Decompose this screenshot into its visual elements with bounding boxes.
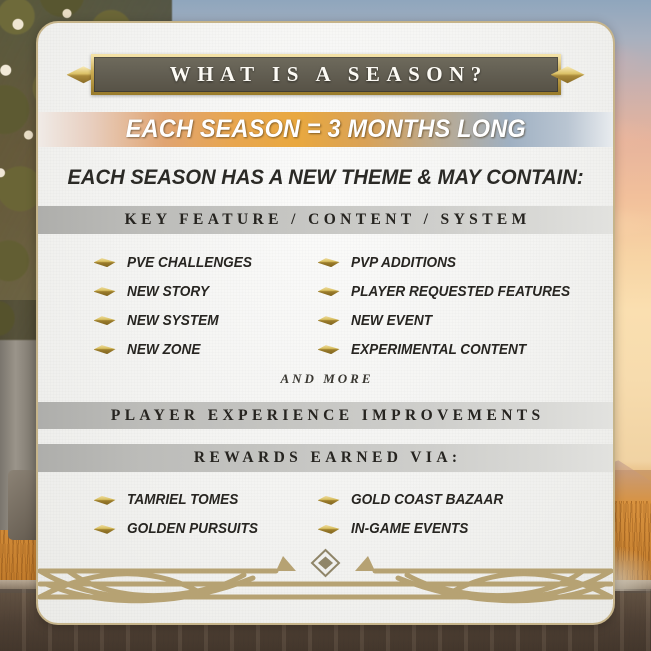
diamond-bullet-icon — [318, 345, 340, 354]
list-item: GOLD COAST BAZAAR — [318, 486, 558, 515]
list-item: NEW SYSTEM — [94, 306, 290, 335]
title-banner-box: WHAT IS A SEASON? — [91, 54, 561, 95]
diamond-ornament-icon — [312, 550, 339, 576]
list-item: NEW STORY — [94, 277, 290, 306]
page-title: WHAT IS A SEASON? — [163, 62, 488, 87]
info-panel: WHAT IS A SEASON? EACH SEASON = 3 MONTHS… — [36, 21, 615, 625]
season-length-bar: EACH SEASON = 3 MONTHS LONG — [38, 112, 613, 147]
list-item-label: IN-GAME EVENTS — [351, 521, 468, 537]
section-header-rewards: REWARDS EARNED VIA: — [38, 444, 613, 472]
diamond-bullet-icon — [318, 316, 340, 325]
list-item-label: PVE CHALLENGES — [127, 255, 252, 271]
season-length-text: EACH SEASON = 3 MONTHS LONG — [125, 115, 525, 144]
diamond-bullet-icon — [94, 345, 116, 354]
list-item-label: EXPERIMENTAL CONTENT — [351, 342, 526, 358]
diamond-bullet-icon — [318, 525, 340, 534]
diamond-bullet-icon — [318, 496, 340, 505]
list-item: PVP ADDITIONS — [318, 248, 558, 277]
list-item: NEW ZONE — [94, 335, 290, 364]
section-header-label: PLAYER EXPERIENCE IMPROVEMENTS — [106, 407, 544, 425]
section-header-player-experience: PLAYER EXPERIENCE IMPROVEMENTS — [38, 402, 613, 430]
list-item: PVE CHALLENGES — [94, 248, 290, 277]
list-item: TAMRIEL TOMES — [94, 486, 290, 515]
diamond-bullet-icon — [318, 287, 340, 296]
list-item: NEW EVENT — [318, 306, 558, 335]
list-item-label: TAMRIEL TOMES — [127, 492, 238, 508]
diamond-bullet-icon — [94, 258, 116, 267]
title-banner: WHAT IS A SEASON? — [91, 54, 561, 95]
list-item-label: PVP ADDITIONS — [351, 255, 456, 271]
list-item: PLAYER REQUESTED FEATURES — [318, 277, 558, 306]
list-item: GOLDEN PURSUITS — [94, 515, 290, 544]
section-header-key-feature: KEY FEATURE / CONTENT / SYSTEM — [38, 206, 613, 234]
list-item-label: GOLDEN PURSUITS — [127, 521, 258, 537]
subheading: EACH SEASON HAS A NEW THEME & MAY CONTAI… — [55, 165, 596, 190]
list-item-label: NEW EVENT — [351, 313, 432, 329]
list-item: IN-GAME EVENTS — [318, 515, 558, 544]
bottom-knot-border — [38, 544, 613, 618]
diamond-bullet-icon — [94, 316, 116, 325]
list-item-label: NEW STORY — [127, 284, 209, 300]
and-more-note: AND MORE — [38, 371, 613, 387]
rewards-list: TAMRIEL TOMES GOLD COAST BAZAAR GOLDEN P… — [38, 472, 613, 544]
list-item-label: NEW ZONE — [127, 342, 200, 358]
list-item-label: PLAYER REQUESTED FEATURES — [351, 284, 570, 300]
list-item-label: NEW SYSTEM — [127, 313, 219, 329]
key-feature-list: PVE CHALLENGES PVP ADDITIONS NEW STORY P… — [38, 234, 613, 364]
diamond-bullet-icon — [94, 287, 116, 296]
diamond-bullet-icon — [94, 525, 116, 534]
section-header-label: REWARDS EARNED VIA: — [189, 449, 461, 467]
diamond-bullet-icon — [318, 258, 340, 267]
list-item-label: GOLD COAST BAZAAR — [351, 492, 503, 508]
list-item: EXPERIMENTAL CONTENT — [318, 335, 558, 364]
diamond-bullet-icon — [94, 496, 116, 505]
section-header-label: KEY FEATURE / CONTENT / SYSTEM — [120, 211, 530, 229]
